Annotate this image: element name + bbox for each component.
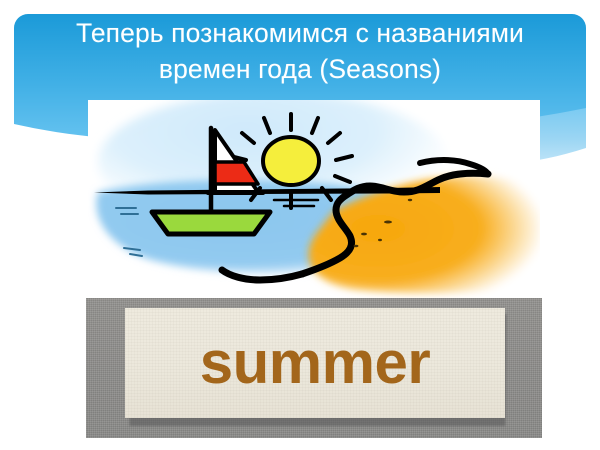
word-plate: summer: [125, 308, 505, 418]
word-panel: summer: [86, 298, 542, 438]
page-title: Теперь познакомимся с названиями времен …: [16, 16, 584, 86]
slide-canvas: Теперь познакомимся с названиями времен …: [0, 0, 600, 450]
seaside-picture: [88, 100, 540, 298]
boat-hull: [152, 212, 270, 234]
title-line-2: времен года (Seasons): [16, 52, 584, 86]
sun-disc: [263, 137, 319, 185]
title-line-1: Теперь познакомимся с названиями: [16, 16, 584, 50]
season-word-label: summer: [200, 333, 430, 393]
